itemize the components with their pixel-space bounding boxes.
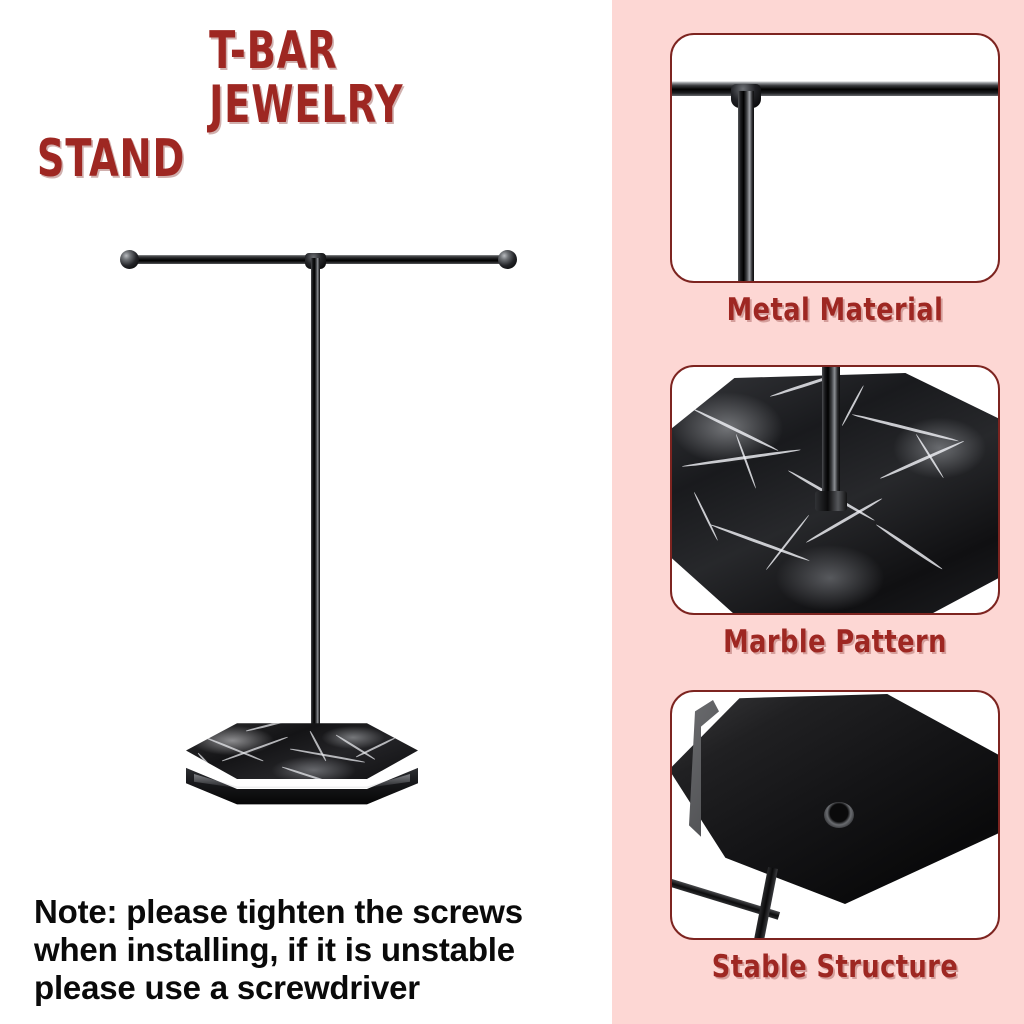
product-image — [0, 210, 612, 850]
base-leg-icon — [753, 867, 778, 940]
feature-marble-pattern[interactable]: Marble Pattern — [670, 365, 1000, 660]
metal-vertical-pole-icon — [738, 91, 754, 283]
page-title-line-1: T-BAR JEWELRY — [0, 24, 492, 132]
marble-card-pole-collar-icon — [815, 491, 847, 511]
feature-label-metal-material: Metal Material — [683, 292, 987, 328]
feature-image-stable-structure — [670, 690, 1000, 940]
page-title-line-2: STAND — [0, 132, 492, 186]
infographic-page: T-BAR JEWELRY STAND — [0, 0, 1024, 1024]
features-panel: Metal Material — [612, 0, 1024, 1024]
feature-image-metal-material — [670, 33, 1000, 283]
marble-base-icon — [186, 722, 418, 814]
left-panel: T-BAR JEWELRY STAND — [0, 0, 612, 1024]
feature-image-marble-pattern — [670, 365, 1000, 615]
screw-hole-icon — [824, 802, 854, 828]
metal-horizontal-bar-icon — [670, 81, 1000, 96]
feature-stable-structure[interactable]: Stable Structure — [670, 690, 1000, 985]
note-text: Note: please tighten the screws when ins… — [34, 893, 590, 1007]
ball-finial-left-icon — [120, 250, 139, 269]
feature-label-stable-structure: Stable Structure — [683, 949, 987, 985]
base-underside-icon — [670, 694, 1000, 904]
vertical-pole-icon — [311, 258, 320, 753]
feature-label-marble-pattern: Marble Pattern — [683, 624, 987, 660]
ball-finial-right-icon — [498, 250, 517, 269]
marble-card-pole-icon — [822, 367, 840, 499]
feature-metal-material[interactable]: Metal Material — [670, 33, 1000, 328]
page-title: T-BAR JEWELRY STAND — [0, 24, 492, 186]
base-top-surface — [186, 722, 418, 784]
t-bar-stand-illustration — [0, 210, 612, 850]
